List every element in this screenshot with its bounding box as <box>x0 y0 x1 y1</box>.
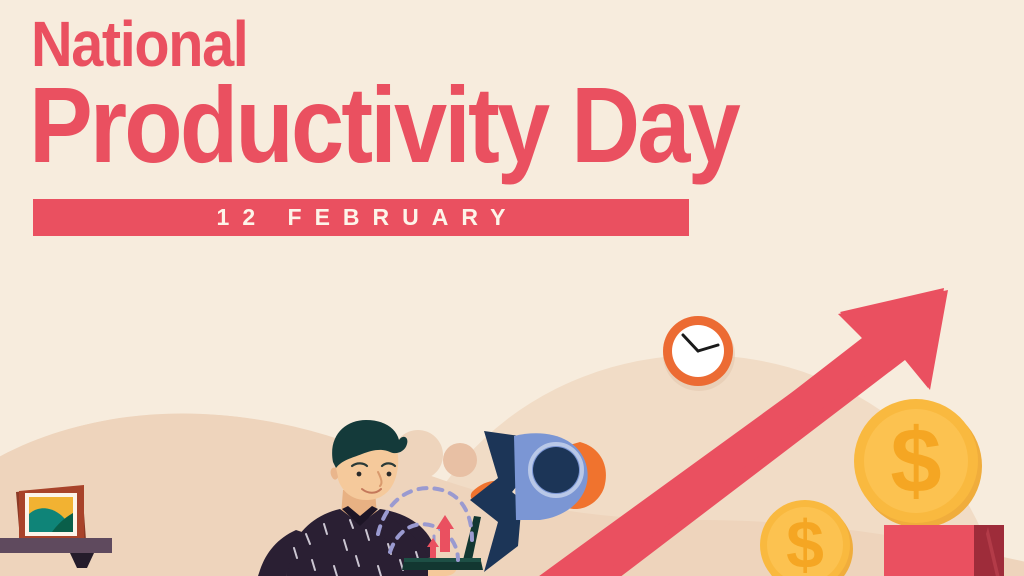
person-eye-right <box>387 472 392 477</box>
bubble-small <box>443 443 477 477</box>
illustration-layer: $ $ <box>0 0 1024 576</box>
rocket-porthole <box>533 447 579 493</box>
person-eye-left <box>357 472 362 477</box>
coin-small-symbol: $ <box>786 507 824 576</box>
poster-canvas: $ $ <box>0 0 1024 576</box>
shelf <box>0 538 112 553</box>
laptop-base <box>402 561 483 570</box>
gift-box-icon <box>884 525 1004 576</box>
bubble-large <box>393 430 443 480</box>
gift-box-front <box>884 525 974 576</box>
coin-large-symbol: $ <box>890 410 941 512</box>
date-banner-text: 12 FEBRUARY <box>33 199 689 236</box>
date-banner: 12 FEBRUARY <box>33 199 689 236</box>
laptop-base-top <box>404 558 481 562</box>
